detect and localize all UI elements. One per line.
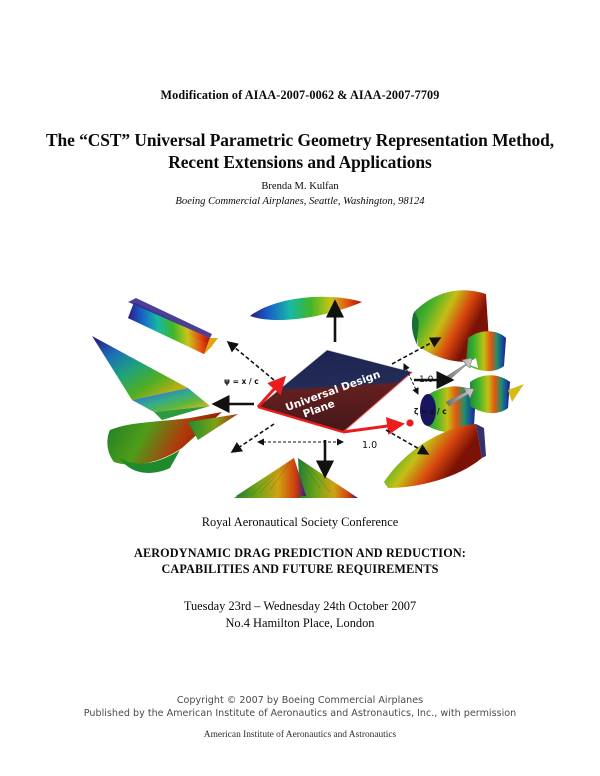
paper-cover-page: Modification of AIAA-2007-0062 & AIAA-20… — [0, 0, 600, 776]
universal-design-plane: Universal Design Plane — [258, 350, 414, 432]
conference-venue: No.4 Hamilton Place, London — [0, 615, 600, 632]
shape-airfoil-section — [250, 297, 362, 320]
conference-theme-line-2: CAPABILITIES AND FUTURE REQUIREMENTS — [0, 561, 600, 577]
copyright-block: Copyright © 2007 by Boeing Commercial Ai… — [0, 694, 600, 720]
formula-left-label: ψ = x / c — [224, 377, 259, 386]
shape-delta-wing-aircraft — [92, 336, 210, 420]
publisher-imprint: American Institute of Aeronautics and As… — [0, 730, 600, 740]
formula-right-label: ζ = z / c — [414, 407, 447, 416]
dimension-bottom-label: 1.0 — [362, 440, 377, 451]
dimension-right-label: 1.0 — [419, 375, 434, 385]
conference-dates: Tuesday 23rd – Wednesday 24th October 20… — [0, 598, 600, 615]
shape-fuselage-body-tube — [128, 298, 218, 354]
conference-theme: AERODYNAMIC DRAG PREDICTION AND REDUCTIO… — [0, 545, 600, 577]
author-affiliation: Boeing Commercial Airplanes, Seattle, Wa… — [0, 196, 600, 207]
title-line-1: The “CST” Universal Parametric Geometry … — [35, 130, 565, 152]
conference-dates-venue: Tuesday 23rd – Wednesday 24th October 20… — [0, 598, 600, 631]
copyright-line-1: Copyright © 2007 by Boeing Commercial Ai… — [0, 694, 600, 707]
shape-swept-wing-planform — [234, 458, 358, 498]
copyright-line-2: Published by the American Institute of A… — [0, 707, 600, 720]
title-line-2: Recent Extensions and Applications — [35, 152, 565, 174]
conference-theme-line-1: AERODYNAMIC DRAG PREDICTION AND REDUCTIO… — [0, 545, 600, 561]
page-title: The “CST” Universal Parametric Geometry … — [35, 130, 565, 174]
modification-note: Modification of AIAA-2007-0062 & AIAA-20… — [0, 88, 600, 103]
shape-nozzle-cone-lower — [384, 424, 486, 488]
cover-figure: Universal Design Plane 1.0 1.0 ψ — [62, 272, 538, 500]
conference-name: Royal Aeronautical Society Conference — [0, 515, 600, 530]
author-name: Brenda M. Kulfan — [0, 181, 600, 192]
shape-blended-wing-body — [107, 412, 238, 473]
